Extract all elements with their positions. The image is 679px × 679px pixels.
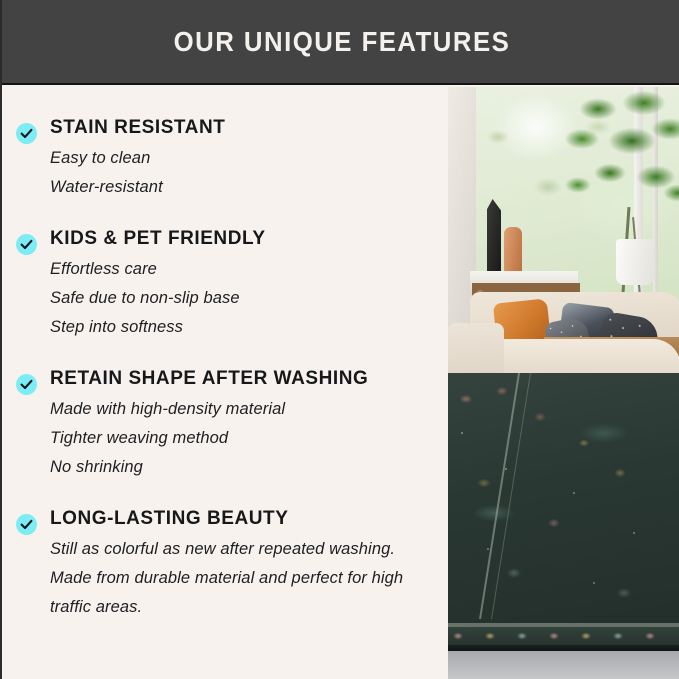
living-room-lifestyle-photo [448, 87, 679, 679]
check-icon [16, 234, 37, 255]
feature-paragraph: Still as colorful as new after repeated … [50, 535, 430, 622]
feature-text: KIDS & PET FRIENDLY Effortless care Safe… [50, 226, 438, 342]
feature-item-stain-resistant: STAIN RESISTANT Easy to clean Water-resi… [16, 115, 438, 202]
floral-area-rug-shape [448, 373, 679, 651]
feature-line: Safe due to non-slip base [50, 284, 438, 313]
features-infographic: OUR UNIQUE FEATURES STAIN RESISTANT Easy… [0, 0, 679, 679]
rug-border-band-shape [448, 627, 679, 645]
check-icon [16, 374, 37, 395]
feature-item-kids-pet-friendly: KIDS & PET FRIENDLY Effortless care Safe… [16, 226, 438, 342]
feature-line: Effortless care [50, 255, 438, 284]
header-bar: OUR UNIQUE FEATURES [2, 0, 679, 85]
feature-line: No shrinking [50, 453, 438, 482]
feature-item-long-lasting-beauty: LONG-LASTING BEAUTY Still as colorful as… [16, 506, 438, 622]
feature-item-retain-shape-after-washing: RETAIN SHAPE AFTER WASHING Made with hig… [16, 366, 438, 482]
feature-title: RETAIN SHAPE AFTER WASHING [50, 366, 438, 392]
check-icon [16, 123, 37, 144]
gray-floor-shape [448, 651, 679, 679]
feature-line: Easy to clean [50, 144, 438, 173]
plant-foliage-shape [558, 87, 679, 256]
feature-title: LONG-LASTING BEAUTY [50, 506, 438, 532]
feature-line: Step into softness [50, 313, 438, 342]
feature-title: STAIN RESISTANT [50, 115, 438, 141]
feature-line: Water-resistant [50, 173, 438, 202]
features-panel: STAIN RESISTANT Easy to clean Water-resi… [2, 87, 448, 679]
check-icon [16, 514, 37, 535]
photo-composition [448, 87, 679, 679]
terracotta-vase-shape [504, 227, 522, 275]
feature-text: STAIN RESISTANT Easy to clean Water-resi… [50, 115, 438, 202]
dark-vase-shape [487, 199, 501, 271]
feature-text: LONG-LASTING BEAUTY Still as colorful as… [50, 506, 438, 622]
plant-pot-shape [616, 239, 654, 285]
feature-text: RETAIN SHAPE AFTER WASHING Made with hig… [50, 366, 438, 482]
feature-line: Made with high-density material [50, 395, 438, 424]
feature-line: Tighter weaving method [50, 424, 438, 453]
page-title: OUR UNIQUE FEATURES [173, 26, 510, 58]
feature-title: KIDS & PET FRIENDLY [50, 226, 438, 252]
